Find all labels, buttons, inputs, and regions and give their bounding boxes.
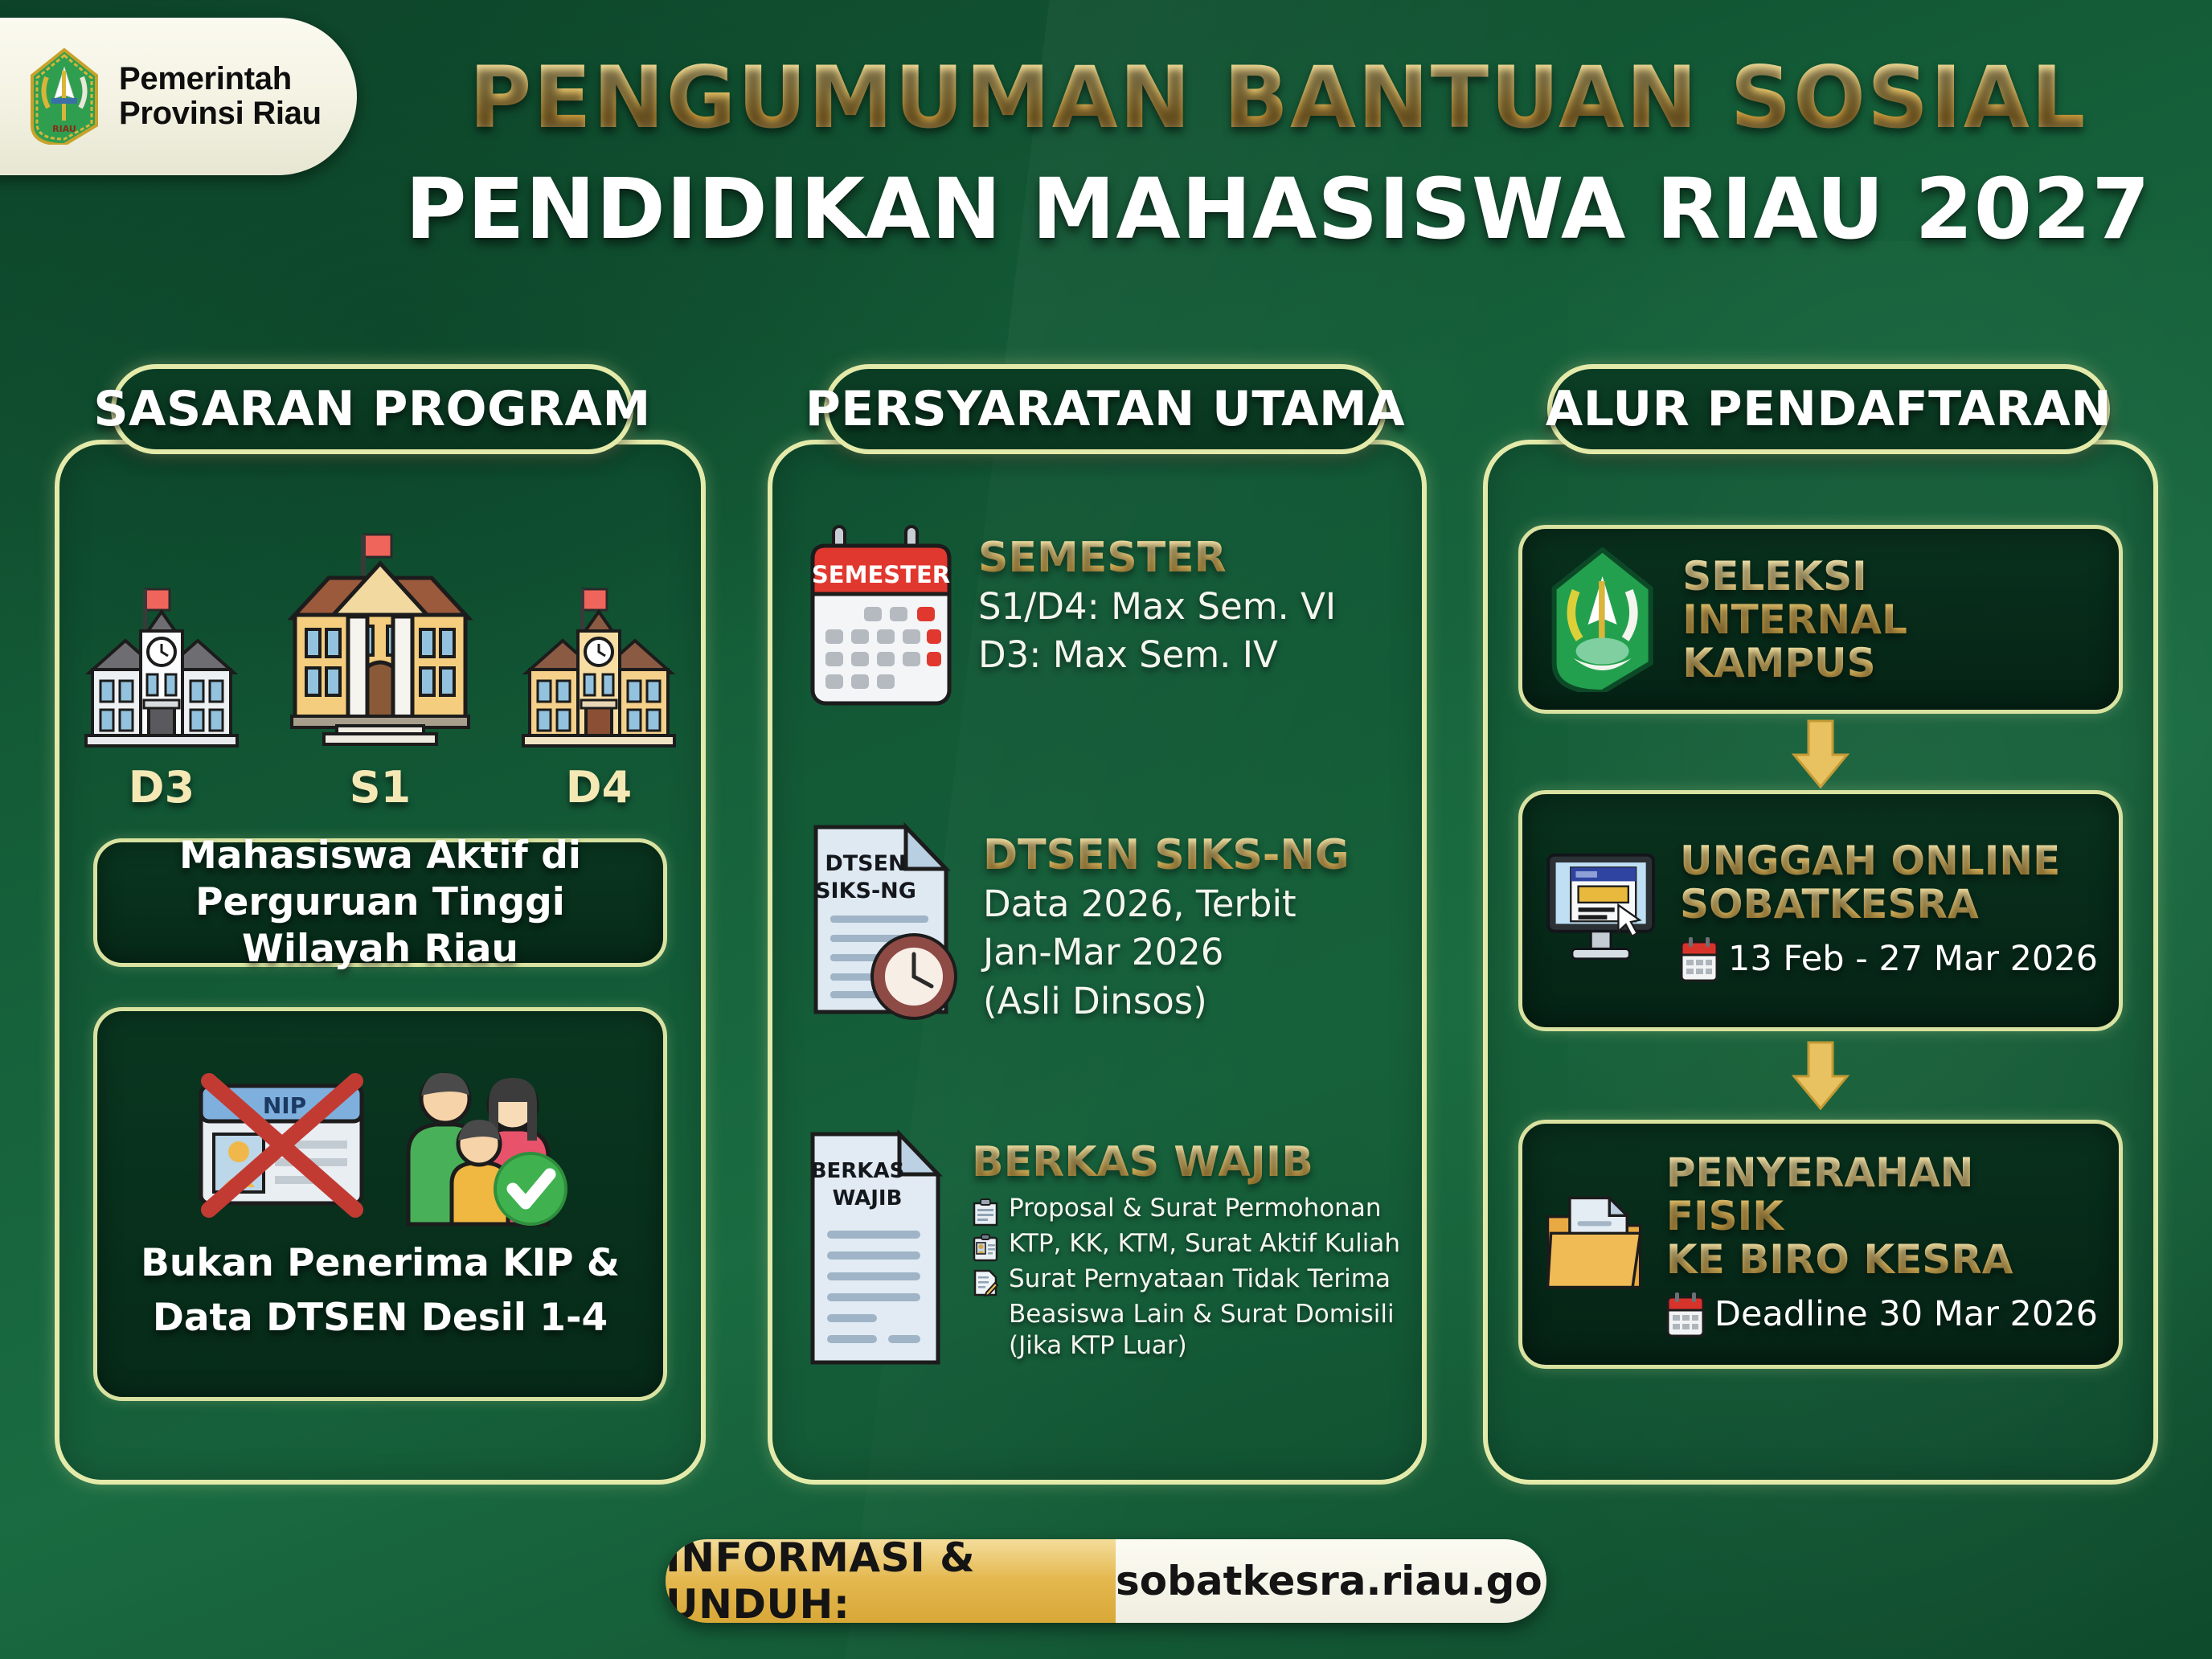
berkas-continuation-line-1: Beasiswa Lain & Surat Domisili — [1009, 1299, 1400, 1330]
step-unggah-text: UNGGAH ONLINE SOBATKESRA 13 Feb - 27 Mar… — [1680, 839, 2098, 982]
column-heading-label: SASARAN PROGRAM — [93, 381, 650, 437]
step-unggah-online: UNGGAH ONLINE SOBATKESRA 13 Feb - 27 Mar… — [1518, 790, 2123, 1031]
school-cell-d4: D4 — [518, 578, 679, 813]
box-mahasiswa-text: Mahasiswa Aktif di Perguruan Tinggi Wila… — [117, 833, 644, 973]
school-icons-row: D3 — [59, 539, 701, 813]
column-sasaran-program: D3 — [55, 440, 706, 1485]
calendar-semester-icon: SEMESTER — [805, 523, 957, 708]
footer-label: INFORMASI & UNDUH: — [666, 1539, 1116, 1623]
requirement-dtsen-text: DTSEN SIKS-NG Data 2026, Terbit Jan-Mar … — [983, 821, 1350, 1024]
title-line-2: PENDIDIKAN MAHASISWA RIAU 2027 — [378, 160, 2178, 258]
requirement-dtsen-line-1: Data 2026, Terbit — [983, 883, 1350, 927]
university-building-icon — [281, 530, 480, 751]
berkas-item: KTP, KK, KTM, Surat Aktif Kuliah — [972, 1228, 1400, 1262]
berkas-item: Surat Pernyataan Tidak Terima — [972, 1264, 1400, 1297]
document-berkas-icon: BERKAS WAJIB — [805, 1128, 951, 1369]
monitor-upload-icon — [1543, 834, 1659, 987]
calendar-icon — [1666, 1291, 1705, 1337]
footer-info-bar[interactable]: INFORMASI & UNDUH: sobatkesra.riau.go.id — [666, 1539, 1546, 1623]
requirement-semester-title: SEMESTER — [978, 536, 1336, 580]
folder-document-icon — [1543, 1164, 1645, 1325]
requirement-dtsen-title: DTSEN SIKS-NG — [983, 834, 1350, 878]
logo-text-block: Pemerintah Provinsi Riau — [119, 62, 322, 131]
columns-area: D3 — [0, 406, 2212, 1483]
step-seleksi-title-1: SELEKSI INTERNAL — [1682, 555, 2098, 641]
kip-icons-row: NIP — [190, 1067, 571, 1227]
column-heading-persyaratan-utama: PERSYARATAN UTAMA — [824, 364, 1387, 454]
berkas-icon-label-1: BERKAS — [811, 1159, 905, 1183]
step-penyerahan-title-2: KE BIRO KESRA — [1666, 1238, 2098, 1281]
berkas-item-text: Surat Pernyataan Tidak Terima — [1009, 1264, 1391, 1295]
berkas-list: Proposal & Surat Permohonan — [972, 1193, 1400, 1362]
column-heading-sasaran-program: SASARAN PROGRAM — [111, 364, 633, 454]
berkas-continuation-line-2: (Jika KTP Luar) — [1009, 1330, 1400, 1362]
step-penyerahan-fisik: PENYERAHAN FISIK KE BIRO KESRA Deadline … — [1518, 1120, 2123, 1369]
calendar-icon — [1680, 936, 1718, 982]
step-penyerahan-title-1: PENYERAHAN FISIK — [1666, 1151, 2098, 1238]
flow-arrow-down-icon — [1791, 719, 1850, 789]
berkas-item-text: Proposal & Surat Permohonan — [1009, 1193, 1381, 1224]
column-heading-alur-pendaftaran: ALUR PENDAFTARAN — [1547, 364, 2110, 454]
step-unggah-date: 13 Feb - 27 Mar 2026 — [1728, 939, 2098, 979]
school-label-d3: D3 — [129, 762, 195, 813]
id-card-icon — [972, 1233, 999, 1262]
requirement-semester-line-2: D3: Max Sem. IV — [978, 633, 1336, 678]
step-seleksi-title-2: KAMPUS — [1682, 641, 2098, 685]
requirement-berkas-wajib: BERKAS WAJIB BERKAS WAJIB — [805, 1128, 1403, 1369]
column-heading-label: ALUR PENDAFTARAN — [1546, 381, 2112, 437]
box-mahasiswa-aktif: Mahasiswa Aktif di Perguruan Tinggi Wila… — [93, 838, 667, 967]
step-unggah-date-row: 13 Feb - 27 Mar 2026 — [1680, 936, 2098, 982]
step-unggah-title-2: SOBATKESRA — [1680, 883, 2098, 926]
column-heading-label: PERSYARATAN UTAMA — [805, 381, 1405, 437]
poster-title: PENGUMUMAN BANTUAN SOSIAL PENDIDIKAN MAH… — [378, 48, 2178, 258]
footer-url-area[interactable]: sobatkesra.riau.go.id — [1116, 1539, 1546, 1623]
requirement-semester-line-1: S1/D4: Max Sem. VI — [978, 585, 1336, 629]
svg-text:RIAU: RIAU — [52, 124, 76, 134]
column-persyaratan-utama: SEMESTER — [768, 440, 1427, 1485]
kip-card-crossed-icon: NIP — [190, 1067, 375, 1227]
requirement-dtsen: DTSEN SIKS-NG DTSEN SIKS-NG Data 2026, T… — [805, 821, 1403, 1024]
infographic-poster: RIAU Pemerintah Provinsi Riau PENGUMUMAN… — [0, 0, 2212, 1659]
school-building-tan-icon — [518, 578, 679, 751]
footer-url[interactable]: sobatkesra.riau.go.id — [1116, 1558, 1546, 1604]
box-kip-line-1: Bukan Penerima KIP & — [141, 1240, 620, 1287]
requirement-dtsen-line-3: (Asli Dinsos) — [983, 980, 1350, 1024]
step-penyerahan-date: Deadline 30 Mar 2026 — [1714, 1294, 2098, 1334]
step-seleksi-text: SELEKSI INTERNAL KAMPUS — [1682, 555, 2098, 685]
dtsen-icon-label-2: SIKS-NG — [815, 879, 916, 903]
document-clock-icon: DTSEN SIKS-NG — [805, 821, 962, 1022]
flow-arrow-down-icon — [1791, 1041, 1850, 1110]
svg-text:NIP: NIP — [262, 1092, 305, 1119]
requirement-berkas-text: BERKAS WAJIB Proposal & Surat Permohonan — [972, 1128, 1400, 1362]
logo-line-1: Pemerintah — [119, 62, 322, 96]
column-alur-pendaftaran: SELEKSI INTERNAL KAMPUS — [1483, 440, 2158, 1485]
dtsen-icon-label-1: DTSEN — [825, 851, 906, 876]
logo-line-2: Provinsi Riau — [119, 96, 322, 131]
box-kip-line-2: Data DTSEN Desil 1-4 — [153, 1295, 608, 1342]
requirement-dtsen-line-2: Jan-Mar 2026 — [983, 931, 1350, 975]
school-cell-d3: D3 — [81, 578, 242, 813]
family-approved-icon — [399, 1067, 571, 1227]
requirement-semester: SEMESTER — [805, 523, 1403, 708]
footer-label-area: INFORMASI & UNDUH: — [666, 1539, 1116, 1623]
school-label-s1: S1 — [350, 762, 411, 813]
school-cell-s1: S1 — [281, 530, 480, 813]
step-unggah-title-1: UNGGAH ONLINE — [1680, 839, 2098, 883]
requirement-berkas-title: BERKAS WAJIB — [972, 1141, 1400, 1185]
calendar-icon-label: SEMESTER — [812, 561, 950, 588]
step-penyerahan-date-row: Deadline 30 Mar 2026 — [1666, 1291, 2098, 1337]
proposal-icon — [972, 1198, 999, 1227]
government-logo-badge: RIAU Pemerintah Provinsi Riau — [0, 18, 357, 175]
school-label-d4: D4 — [566, 762, 632, 813]
berkas-item: Proposal & Surat Permohonan — [972, 1193, 1400, 1227]
school-building-white-icon — [81, 578, 242, 751]
step-seleksi-internal: SELEKSI INTERNAL KAMPUS — [1518, 525, 2123, 714]
requirement-semester-text: SEMESTER S1/D4: Max Sem. VI D3: Max Sem.… — [978, 523, 1336, 678]
berkas-item-text: KTP, KK, KTM, Surat Aktif Kuliah — [1009, 1228, 1400, 1260]
riau-provincial-emblem-icon: RIAU — [27, 48, 101, 145]
title-line-1: PENGUMUMAN BANTUAN SOSIAL — [378, 48, 2178, 147]
step-penyerahan-text: PENYERAHAN FISIK KE BIRO KESRA Deadline … — [1666, 1151, 2098, 1337]
signed-letter-icon — [972, 1268, 999, 1297]
box-bukan-penerima-kip: NIP — [93, 1007, 667, 1401]
riau-emblem-icon — [1543, 547, 1661, 692]
berkas-icon-label-2: WAJIB — [833, 1186, 903, 1210]
